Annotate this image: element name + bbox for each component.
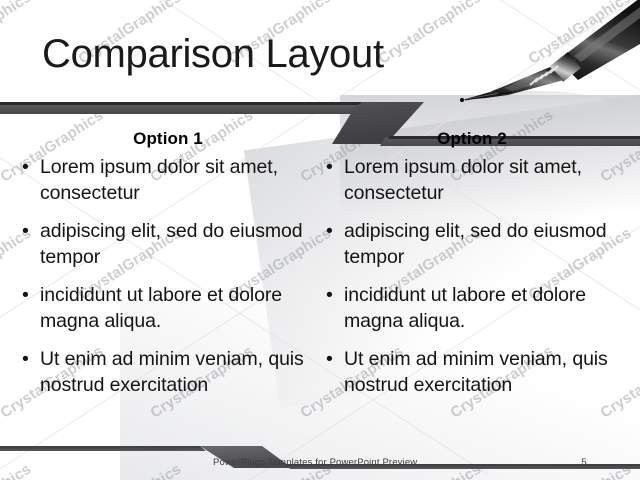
list-item: • incididunt ut labore et dolore magna a…	[322, 282, 622, 334]
column-heading-option-2: Option 2	[322, 128, 622, 154]
bullet-dot-icon: •	[22, 282, 29, 308]
bullet-text: incididunt ut labore et dolore magna ali…	[40, 284, 282, 332]
watermark-text: CrystalGraphics	[525, 0, 634, 68]
bullet-text: Lorem ipsum dolor sit amet, consectetur	[40, 156, 278, 204]
bullet-list-left: • Lorem ipsum dolor sit amet, consectetu…	[18, 154, 318, 398]
list-item: • Ut enim ad minim veniam, quis nostrud …	[322, 346, 622, 398]
watermark-text: CrystalGraphics	[0, 0, 34, 68]
footer-text: PowerPlugs Templates for PowerPoint Prev…	[213, 457, 417, 468]
list-item: • Ut enim ad minim veniam, quis nostrud …	[18, 346, 318, 398]
watermark-text: CrystalGraphics	[375, 0, 484, 68]
comparison-column-left: Option 1 • Lorem ipsum dolor sit amet, c…	[18, 128, 318, 410]
bullet-text: Ut enim ad minim veniam, quis nostrud ex…	[40, 348, 304, 396]
bullet-dot-icon: •	[326, 154, 333, 180]
list-item: • incididunt ut labore et dolore magna a…	[18, 282, 318, 334]
comparison-column-right: Option 2 • Lorem ipsum dolor sit amet, c…	[322, 128, 622, 410]
bullet-text: incididunt ut labore et dolore magna ali…	[344, 284, 586, 332]
bullet-dot-icon: •	[326, 218, 333, 244]
bullet-dot-icon: •	[22, 154, 29, 180]
list-item: • adipiscing elit, sed do eiusmod tempor	[322, 218, 622, 270]
bullet-dot-icon: •	[326, 346, 333, 372]
bullet-dot-icon: •	[22, 218, 29, 244]
watermark-text: CrystalGraphics	[0, 461, 34, 480]
list-item: • Lorem ipsum dolor sit amet, consectetu…	[322, 154, 622, 206]
bullet-dot-icon: •	[326, 282, 333, 308]
list-item: • Lorem ipsum dolor sit amet, consectetu…	[18, 154, 318, 206]
bullet-text: adipiscing elit, sed do eiusmod tempor	[344, 220, 606, 268]
slide-canvas: CrystalGraphicsCrystalGraphicsCrystalGra…	[0, 0, 640, 480]
bullet-text: Lorem ipsum dolor sit amet, consectetur	[344, 156, 582, 204]
page-title: Comparison Layout	[42, 32, 384, 77]
bullet-list-right: • Lorem ipsum dolor sit amet, consectetu…	[322, 154, 622, 398]
column-heading-option-1: Option 1	[18, 128, 318, 154]
list-item: • adipiscing elit, sed do eiusmod tempor	[18, 218, 318, 270]
fountain-pen-nib-photo	[450, 0, 640, 118]
page-number: 5	[576, 457, 592, 468]
bullet-text: Ut enim ad minim veniam, quis nostrud ex…	[344, 348, 608, 396]
watermark-text: CrystalGraphics	[75, 461, 184, 480]
bullet-dot-icon: •	[22, 346, 29, 372]
bullet-text: adipiscing elit, sed do eiusmod tempor	[40, 220, 302, 268]
